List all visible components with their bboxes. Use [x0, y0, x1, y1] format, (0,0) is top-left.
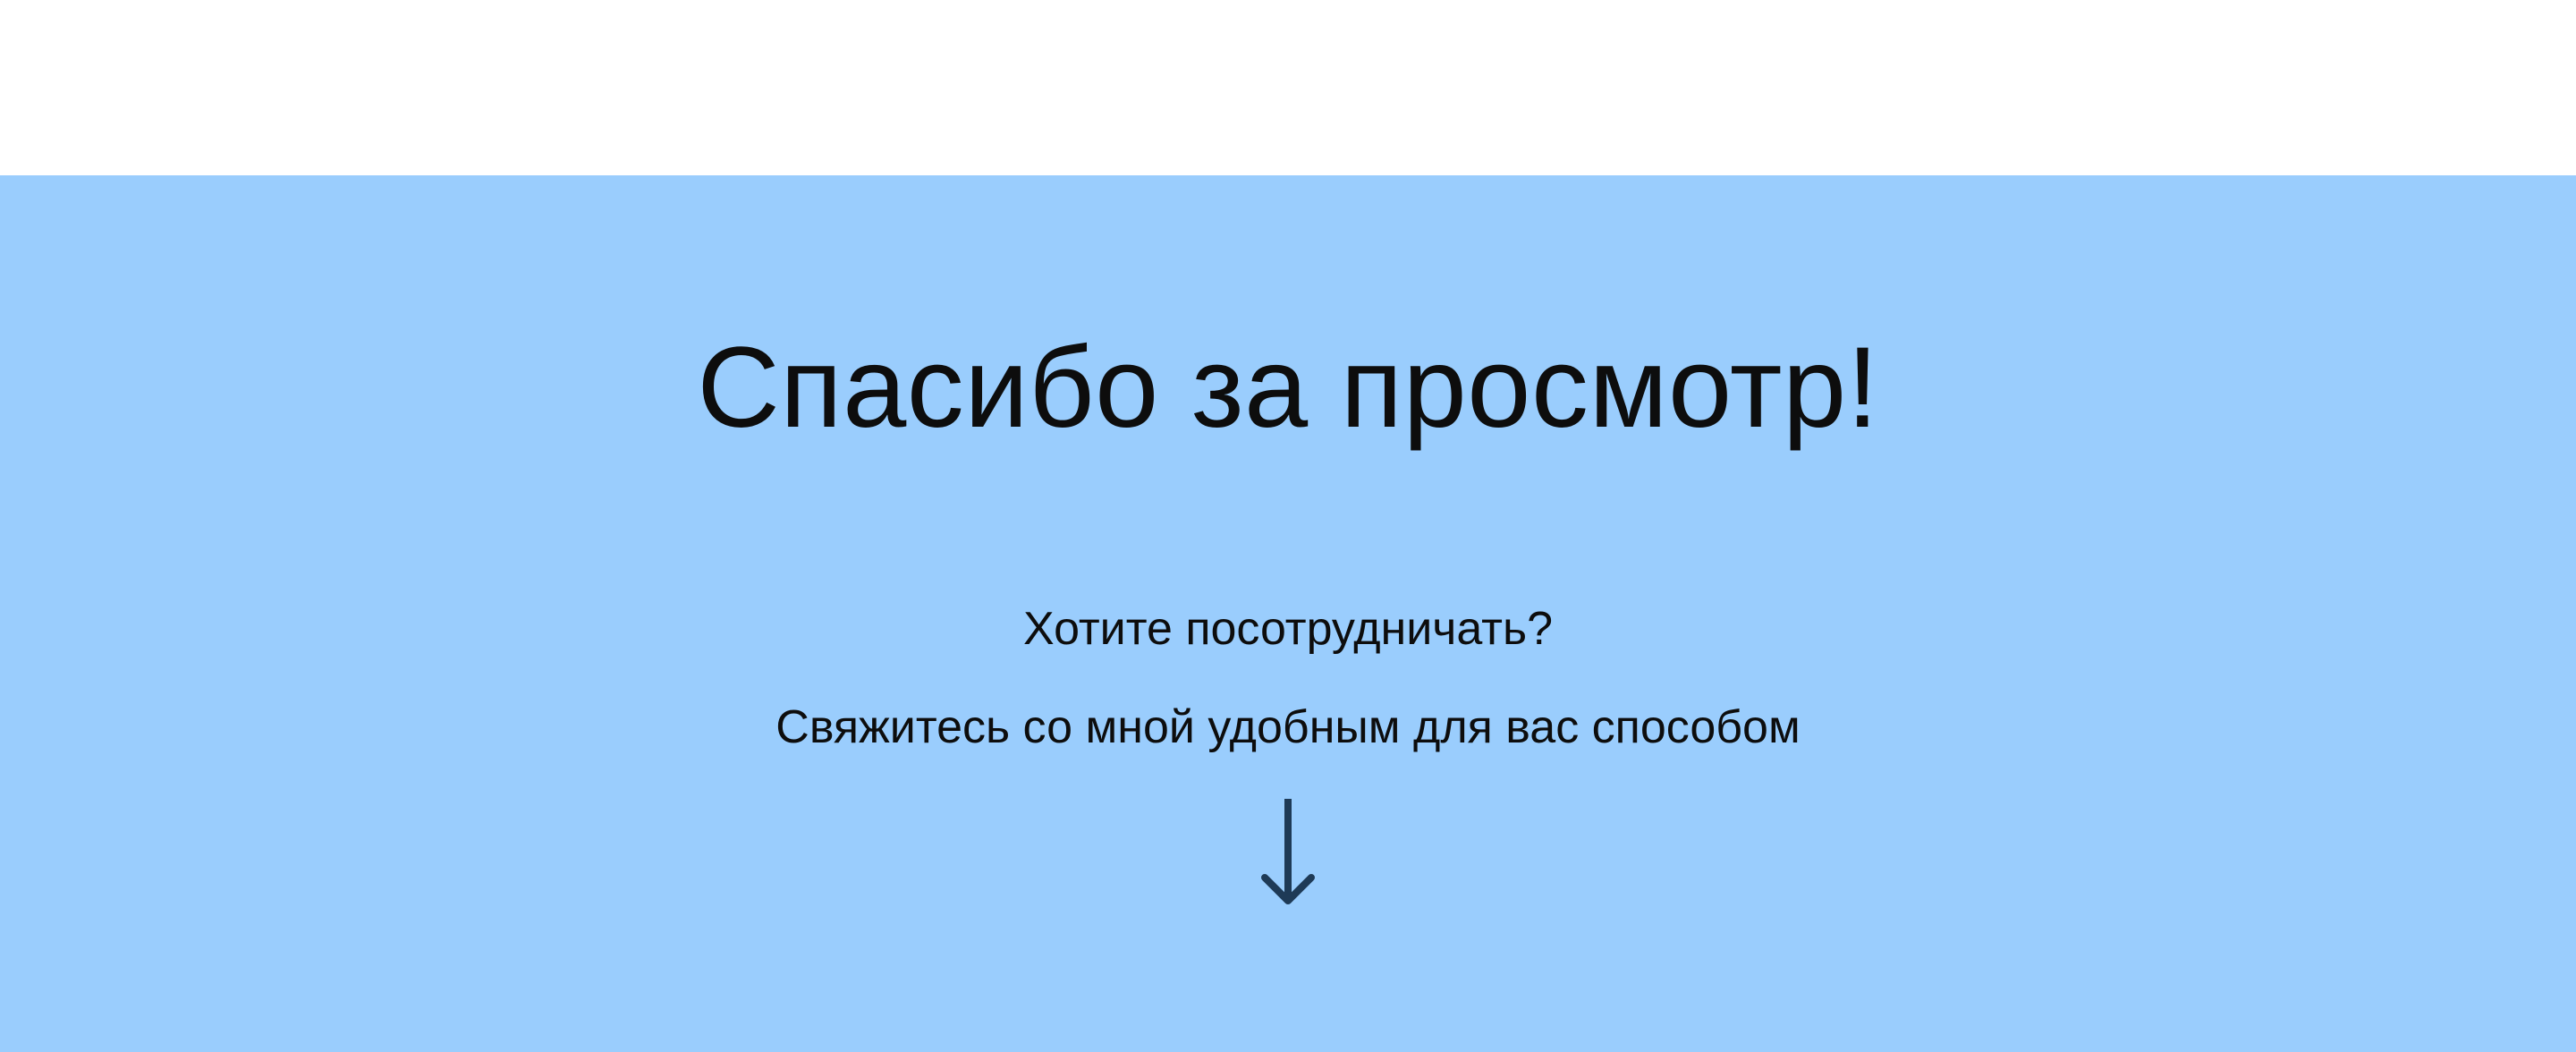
subtitle-line-2: Свяжитесь со мной удобным для вас способ…	[775, 678, 1800, 776]
outro-page: Спасибо за просмотр! Хотите посотруднича…	[0, 0, 2576, 1052]
outro-section: Спасибо за просмотр! Хотите посотруднича…	[0, 175, 2576, 1052]
top-white-band	[0, 0, 2576, 175]
outro-subtitle-block: Хотите посотрудничать? Свяжитесь со мной…	[0, 580, 2576, 776]
subtitle-line-1: Хотите посотрудничать?	[1023, 580, 1553, 678]
arrow-down-icon	[1252, 791, 1324, 916]
scroll-down-arrow[interactable]	[1252, 791, 1324, 916]
page-title: Спасибо за просмотр!	[0, 331, 2576, 445]
